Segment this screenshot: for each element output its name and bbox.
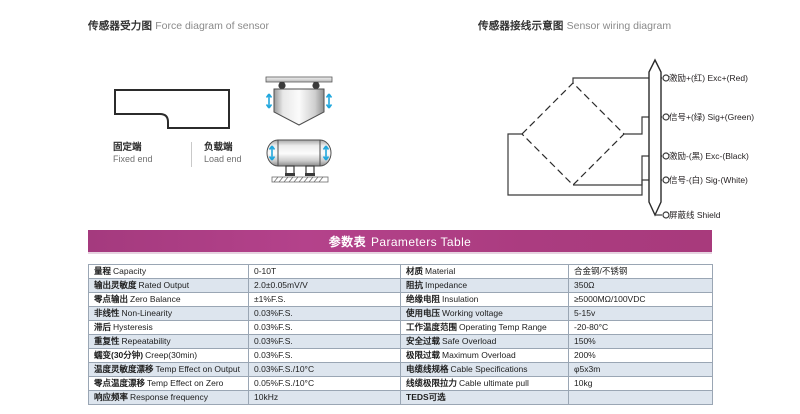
terminal-label-sig-plus-cn: 信号+(绿) (669, 112, 705, 122)
param-label-cn: 温度灵敏度漂移 (94, 364, 154, 374)
param-value-right: 150% (569, 335, 713, 349)
terminal-label-shield-en: Shield (697, 210, 721, 220)
param-label-cn: 材质 (406, 266, 423, 276)
terminal-label-exc-plus: 激励+(红) Exc+(Red) (669, 74, 748, 83)
param-label-left: 零点温度漂移Temp Effect on Zero (89, 377, 249, 391)
param-label-cn: 零点输出 (94, 294, 128, 304)
param-value-right: 10kg (569, 377, 713, 391)
sensor-bracket-illustration (113, 88, 231, 136)
table-row: 温度灵敏度漂移Temp Effect on Output0.03%F.S./10… (89, 363, 713, 377)
wiring-diagram-heading-en: Sensor wiring diagram (567, 20, 671, 32)
terminal-label-exc-minus-en: Exc-(Black) (705, 151, 748, 161)
param-value-left: 0.05%F.S./10°C (249, 377, 401, 391)
param-value-left: 0.03%F.S. (249, 349, 401, 363)
param-label-en: Cable Specifications (451, 364, 528, 374)
param-value-right: φ5x3m (569, 363, 713, 377)
param-label-right: 阻抗Impedance (401, 279, 569, 293)
param-label-en: Temp Effect on Output (156, 364, 240, 374)
param-label-right: 绝缘电阻Insulation (401, 293, 569, 307)
param-label-en: Operating Temp Range (459, 322, 547, 332)
force-diagram-heading: 传感器受力图Force diagram of sensor (88, 18, 269, 33)
param-label-en: Creep(30min) (145, 350, 197, 360)
table-row: 响应频率Response frequency10kHzTEDS可选 (89, 391, 713, 405)
param-label-cn: 零点温度漂移 (94, 378, 145, 388)
terminal-label-exc-plus-cn: 激励+(红) (669, 73, 705, 83)
param-label-cn: 工作温度范围 (406, 322, 457, 332)
param-label-en: Cable ultimate pull (459, 378, 529, 388)
param-label-en: Impedance (425, 280, 467, 290)
param-label-right: 电缆线规格Cable Specifications (401, 363, 569, 377)
param-value-right: ≥5000MΩ/100VDC (569, 293, 713, 307)
param-label-right: 工作温度范围Operating Temp Range (401, 321, 569, 335)
param-label-en: Maximum Overload (442, 350, 516, 360)
table-row: 重复性Repeatability0.03%F.S.安全过载Safe Overlo… (89, 335, 713, 349)
param-value-right: -20-80°C (569, 321, 713, 335)
param-label-cn: 使用电压 (406, 308, 440, 318)
terminal-label-exc-minus: 激励-(黑) Exc-(Black) (669, 152, 749, 161)
table-row: 非线性Non-Linearity0.03%F.S.使用电压Working vol… (89, 307, 713, 321)
param-label-right: 线缆极限拉力Cable ultimate pull (401, 377, 569, 391)
param-value-right: 合金钢/不锈钢 (569, 265, 713, 279)
wiring-diagram-heading-cn: 传感器接线示意图 (478, 20, 564, 32)
param-label-cn: 阻抗 (406, 280, 423, 290)
param-label-right: 极限过载Maximum Overload (401, 349, 569, 363)
param-value-left: 0.03%F.S. (249, 335, 401, 349)
terminal-label-sig-minus-cn: 信号-(白) (669, 175, 703, 185)
parameters-table: 量程Capacity0-10T材质Material合金钢/不锈钢输出灵敏度Rat… (88, 264, 713, 405)
param-label-en: Zero Balance (130, 294, 181, 304)
force-diagram-heading-en: Force diagram of sensor (155, 20, 269, 32)
param-label-cn: 响应频率 (94, 392, 128, 402)
param-label-cn: 重复性 (94, 336, 120, 346)
param-value-right (569, 391, 713, 405)
table-row: 蠕变(30分钟)Creep(30min)0.03%F.S.极限过载Maximum… (89, 349, 713, 363)
param-label-en: Repeatability (122, 336, 171, 346)
tank-application-illustrations (256, 72, 342, 190)
param-label-en: Temp Effect on Zero (147, 378, 223, 388)
param-label-left: 零点输出Zero Balance (89, 293, 249, 307)
table-row: 零点温度漂移Temp Effect on Zero0.05%F.S./10°C线… (89, 377, 713, 391)
banner-underline (88, 252, 712, 254)
param-value-left: 2.0±0.05mV/V (249, 279, 401, 293)
terminal-label-sig-minus-en: Sig-(White) (705, 175, 748, 185)
parameters-table-banner-title-en: Parameters Table (371, 235, 471, 249)
param-value-left: 0.03%F.S./10°C (249, 363, 401, 377)
param-label-cn: 量程 (94, 266, 111, 276)
force-diagram: 固定端 Fixed end 负载端 Load end (88, 60, 418, 200)
wiring-diagram-heading: 传感器接线示意图Sensor wiring diagram (478, 18, 671, 33)
end-labels-divider (191, 142, 192, 167)
param-value-left: 0.03%F.S. (249, 321, 401, 335)
fixed-end-label: 固定端 Fixed end (113, 142, 191, 165)
param-label-en: Hysteresis (113, 322, 153, 332)
param-label-cn: 电缆线规格 (406, 364, 449, 374)
param-label-en: Working voltage (442, 308, 503, 318)
param-label-left: 输出灵敏度Rated Output (89, 279, 249, 293)
param-value-right: 350Ω (569, 279, 713, 293)
param-label-right: 安全过载Safe Overload (401, 335, 569, 349)
param-label-left: 滞后Hysteresis (89, 321, 249, 335)
param-label-cn: TEDS可选 (406, 392, 446, 402)
param-label-right: TEDS可选 (401, 391, 569, 405)
param-label-en: Response frequency (130, 392, 208, 402)
table-row: 滞后Hysteresis0.03%F.S.工作温度范围Operating Tem… (89, 321, 713, 335)
table-row: 零点输出Zero Balance±1%F.S.绝缘电阻Insulation≥50… (89, 293, 713, 307)
parameters-table-banner: 参数表Parameters Table (88, 230, 712, 252)
param-label-cn: 滞后 (94, 322, 111, 332)
param-label-left: 量程Capacity (89, 265, 249, 279)
param-value-right: 5-15v (569, 307, 713, 321)
terminal-label-shield: 屏蔽线 Shield (669, 211, 721, 220)
fixed-end-label-en: Fixed end (113, 154, 191, 165)
force-diagram-heading-cn: 传感器受力图 (88, 20, 152, 32)
param-value-left: 0.03%F.S. (249, 307, 401, 321)
terminal-label-sig-minus: 信号-(白) Sig-(White) (669, 176, 748, 185)
parameters-table-banner-title: 参数表Parameters Table (329, 233, 471, 250)
table-row: 输出灵敏度Rated Output2.0±0.05mV/V阻抗Impedance… (89, 279, 713, 293)
param-label-en: Safe Overload (442, 336, 496, 346)
parameters-table-banner-title-cn: 参数表 (329, 235, 366, 249)
parameters-table-body: 量程Capacity0-10T材质Material合金钢/不锈钢输出灵敏度Rat… (89, 265, 713, 405)
terminal-label-exc-plus-en: Exc+(Red) (708, 73, 748, 83)
param-label-right: 使用电压Working voltage (401, 307, 569, 321)
param-label-cn: 绝缘电阻 (406, 294, 440, 304)
param-label-left: 重复性Repeatability (89, 335, 249, 349)
param-label-cn: 输出灵敏度 (94, 280, 137, 290)
param-label-en: Material (425, 266, 455, 276)
param-label-left: 蠕变(30分钟)Creep(30min) (89, 349, 249, 363)
param-label-en: Rated Output (139, 280, 190, 290)
param-label-cn: 蠕变(30分钟) (94, 350, 143, 360)
terminal-label-exc-minus-cn: 激励-(黑) (669, 151, 703, 161)
param-label-en: Insulation (442, 294, 478, 304)
param-value-left: ±1%F.S. (249, 293, 401, 307)
param-label-en: Capacity (113, 266, 146, 276)
table-row: 量程Capacity0-10T材质Material合金钢/不锈钢 (89, 265, 713, 279)
param-label-cn: 线缆极限拉力 (406, 378, 457, 388)
param-label-en: Non-Linearity (122, 308, 173, 318)
terminal-label-shield-cn: 屏蔽线 (669, 210, 695, 220)
param-label-cn: 极限过载 (406, 350, 440, 360)
terminal-label-sig-plus-en: Sig+(Green) (708, 112, 755, 122)
fixed-end-label-cn: 固定端 (113, 142, 191, 154)
wiring-terminal-labels: 激励+(红) Exc+(Red) 信号+(绿) Sig+(Green) 激励-(… (655, 52, 800, 224)
param-value-left: 0-10T (249, 265, 401, 279)
param-label-left: 响应频率Response frequency (89, 391, 249, 405)
param-label-left: 温度灵敏度漂移Temp Effect on Output (89, 363, 249, 377)
param-label-right: 材质Material (401, 265, 569, 279)
param-value-left: 10kHz (249, 391, 401, 405)
param-label-cn: 安全过载 (406, 336, 440, 346)
param-label-left: 非线性Non-Linearity (89, 307, 249, 321)
param-value-right: 200% (569, 349, 713, 363)
terminal-label-sig-plus: 信号+(绿) Sig+(Green) (669, 113, 754, 122)
param-label-cn: 非线性 (94, 308, 120, 318)
